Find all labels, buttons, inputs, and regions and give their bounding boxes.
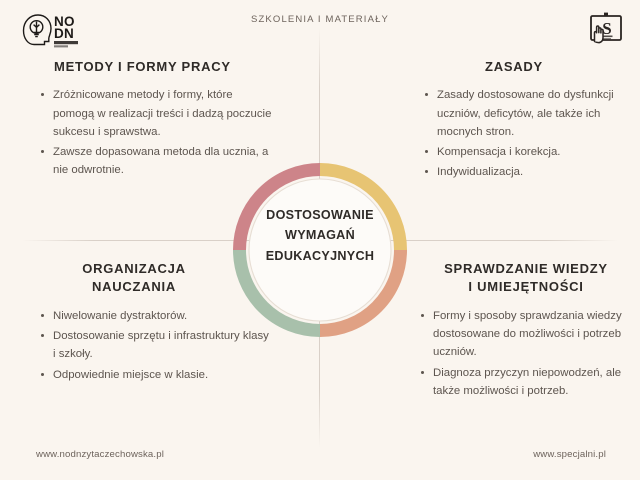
quadrant-list: Zróżnicowane metody i formy, które pomog… [40, 86, 272, 179]
list-item: Odpowiednie miejsce w klasie. [40, 366, 272, 384]
svg-text:DN: DN [54, 26, 74, 41]
quadrant-zasady: ZASADY Zasady dostosowane do dysfunkcji … [424, 58, 630, 184]
quadrant-title-line-1: ORGANIZACJA [40, 260, 228, 278]
specjalni-screen-hand-logo: S [586, 10, 626, 50]
list-item: Niwelowanie dystraktorów. [40, 307, 272, 325]
quadrant-list: Zasady dostosowane do dysfunkcji uczniów… [424, 86, 630, 181]
center-title: DOSTOSOWANIE WYMAGAŃ EDUKACYJNYCH [248, 205, 392, 266]
quadrant-title: METODY I FORMY PRACY [40, 58, 272, 76]
page-title: SZKOLENIA I MATERIAŁY [0, 14, 640, 25]
quadrant-title: ORGANIZACJA NAUCZANIA [40, 260, 272, 297]
quadrant-sprawdzanie-wiedzy: SPRAWDZANIE WIEDZY I UMIEJĘTNOŚCI Formy … [420, 260, 632, 402]
footer-url-right[interactable]: www.specjalni.pl [533, 449, 606, 460]
quadrant-metody-i-formy-pracy: METODY I FORMY PRACY Zróżnicowane metody… [40, 58, 272, 182]
quadrant-list: Formy i sposoby sprawdzania wiedzy dosto… [420, 307, 632, 400]
quadrant-organizacja-nauczania: ORGANIZACJA NAUCZANIA Niwelowanie dystra… [40, 260, 272, 386]
quadrant-list: Niwelowanie dystraktorów. Dostosowanie s… [40, 307, 272, 384]
list-item: Zróżnicowane metody i formy, które pomog… [40, 86, 272, 141]
quadrant-title-line-2: I UMIEJĘTNOŚCI [420, 278, 632, 296]
list-item: Dostosowanie sprzętu i infrastruktury kl… [40, 327, 272, 364]
center-title-line-2: WYMAGAŃ [248, 225, 392, 245]
list-item: Kompensacja i korekcja. [424, 143, 630, 161]
list-item: Zasady dostosowane do dysfunkcji uczniów… [424, 86, 630, 141]
center-title-line-1: DOSTOSOWANIE [248, 205, 392, 225]
list-item: Diagnoza przyczyn niepowodzeń, ale także… [420, 364, 632, 401]
list-item: Zawsze dopasowana metoda dla ucznia, a n… [40, 143, 272, 180]
quadrant-title-line-2: NAUCZANIA [40, 278, 228, 296]
list-item: Indywidualizacja. [424, 163, 630, 181]
list-item: Formy i sposoby sprawdzania wiedzy dosto… [420, 307, 632, 362]
infographic-canvas: NO DN SZKOLENIA I MATERIAŁY S [0, 0, 640, 480]
quadrant-title: ZASADY [424, 58, 630, 76]
footer-url-left[interactable]: www.nodnzytaczechowska.pl [36, 449, 164, 460]
quadrant-title-line-1: SPRAWDZANIE WIEDZY [420, 260, 632, 278]
quadrant-title: SPRAWDZANIE WIEDZY I UMIEJĘTNOŚCI [420, 260, 632, 297]
